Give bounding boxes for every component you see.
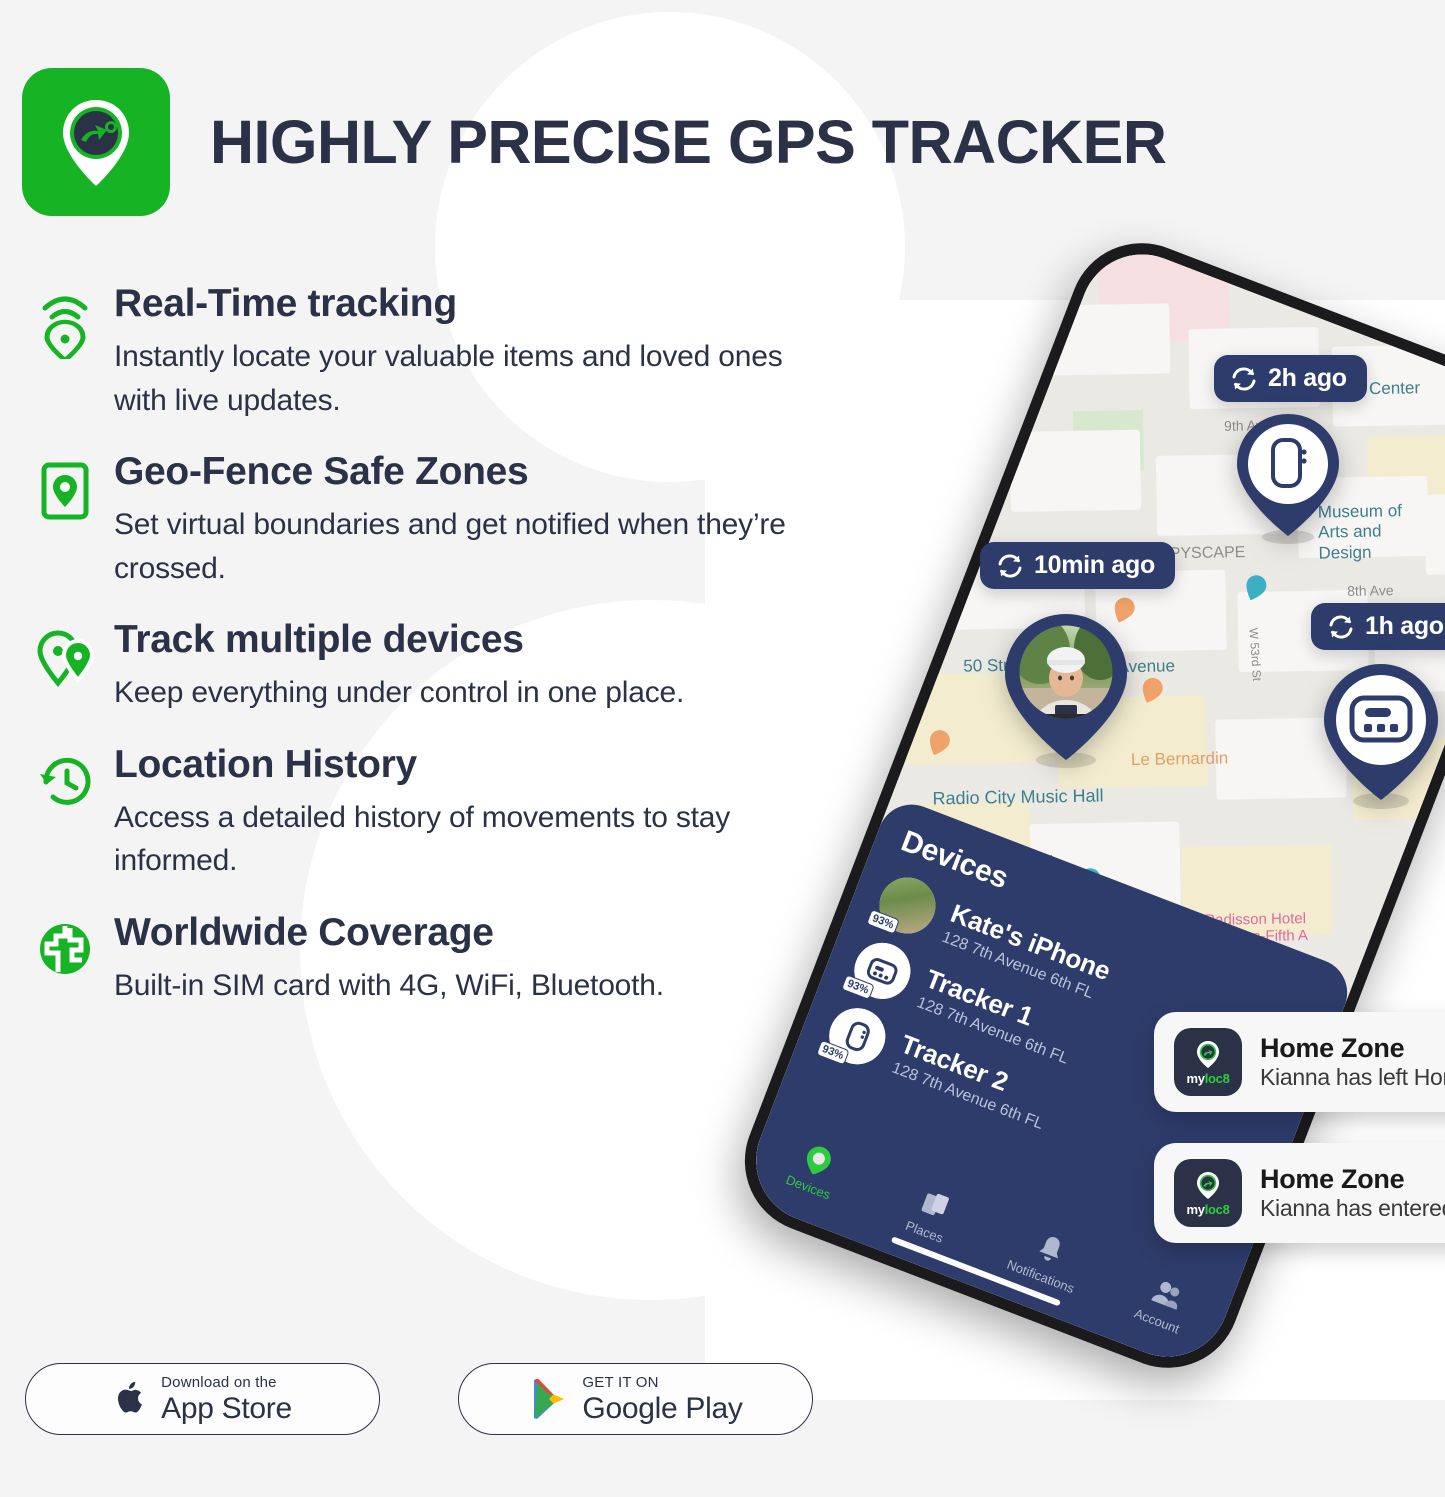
badge-label: 10min ago bbox=[1034, 551, 1155, 580]
notification-card[interactable]: myloc8 Home Zone Kianna has entered H bbox=[1154, 1143, 1445, 1243]
multiple-pins-icon bbox=[36, 619, 114, 715]
notification-title: Home Zone bbox=[1260, 1033, 1445, 1064]
notification-card[interactable]: myloc8 Home Zone Kianna has left Home bbox=[1154, 1012, 1445, 1112]
store-buttons: Download on the App Store GET IT ON Goog… bbox=[25, 1363, 813, 1435]
app-icon: myloc8 bbox=[1174, 1159, 1242, 1227]
google-play-button[interactable]: GET IT ON Google Play bbox=[458, 1363, 813, 1435]
google-play-label: Google Play bbox=[582, 1394, 742, 1424]
google-play-icon bbox=[528, 1377, 568, 1421]
refresh-icon bbox=[1230, 366, 1258, 392]
badge-label: 2h ago bbox=[1268, 364, 1347, 393]
person-avatar-pin[interactable] bbox=[1000, 610, 1132, 773]
notification-title: Home Zone bbox=[1260, 1164, 1445, 1195]
feature-title: Location History bbox=[114, 744, 836, 786]
feature-description: Instantly locate your valuable items and… bbox=[114, 335, 804, 422]
feature-item-worldwide-coverage: Worldwide Coverage Built-in SIM card wit… bbox=[36, 912, 836, 1008]
map-label: Radio City Music Hall bbox=[932, 785, 1103, 809]
feature-title: Track multiple devices bbox=[114, 619, 836, 661]
tab-notifications[interactable]: Notifications bbox=[980, 1212, 1115, 1306]
map-label: 8th Ave bbox=[1347, 582, 1394, 599]
notification-body: Kianna has entered H bbox=[1260, 1195, 1445, 1222]
feature-title: Worldwide Coverage bbox=[114, 912, 836, 954]
avatar: 93% bbox=[871, 869, 943, 941]
refresh-icon bbox=[1327, 614, 1355, 640]
tab-places[interactable]: Places bbox=[864, 1167, 999, 1261]
app-store-label: App Store bbox=[161, 1394, 292, 1424]
timestamp-badge-2h: 2h ago bbox=[1214, 355, 1367, 402]
feature-item-geo-fence: Geo-Fence Safe Zones Set virtual boundar… bbox=[36, 451, 836, 590]
feature-item-real-time-tracking: Real-Time tracking Instantly locate your… bbox=[36, 283, 836, 422]
app-icon: myloc8 bbox=[1174, 1028, 1242, 1096]
feature-title: Real-Time tracking bbox=[114, 283, 836, 325]
timestamp-badge-1h: 1h ago bbox=[1311, 603, 1445, 650]
app-logo bbox=[22, 68, 170, 216]
timestamp-badge-10min: 10min ago bbox=[980, 542, 1175, 589]
tracker-card-pin[interactable] bbox=[1320, 660, 1442, 815]
globe-icon bbox=[36, 912, 114, 1008]
app-name: myloc8 bbox=[1186, 1202, 1229, 1217]
feature-list: Real-Time tracking Instantly locate your… bbox=[36, 283, 836, 1037]
feature-item-track-multiple: Track multiple devices Keep everything u… bbox=[36, 619, 836, 715]
app-name: myloc8 bbox=[1186, 1071, 1229, 1086]
feature-description: Keep everything under control in one pla… bbox=[114, 671, 804, 715]
location-pin-globe-icon bbox=[44, 90, 148, 194]
app-store-button[interactable]: Download on the App Store bbox=[25, 1363, 380, 1435]
tracker-tag-pin[interactable] bbox=[1233, 410, 1343, 550]
geofence-pin-square-icon bbox=[36, 451, 114, 590]
google-play-subtitle: GET IT ON bbox=[582, 1375, 742, 1390]
feature-description: Access a detailed history of movements t… bbox=[114, 796, 804, 883]
page-title: HIGHLY PRECISE GPS TRACKER bbox=[210, 107, 1166, 177]
feature-description: Built-in SIM card with 4G, WiFi, Bluetoo… bbox=[114, 964, 804, 1008]
feature-title: Geo-Fence Safe Zones bbox=[114, 451, 836, 493]
refresh-icon bbox=[996, 553, 1024, 579]
tracker-tag-icon: 93% bbox=[846, 935, 918, 1007]
notification-body: Kianna has left Home bbox=[1260, 1064, 1445, 1091]
app-store-subtitle: Download on the bbox=[161, 1375, 292, 1390]
tracker-card-icon: 93% bbox=[821, 1000, 893, 1072]
tab-account[interactable]: Account bbox=[1096, 1256, 1231, 1350]
promo-banner: HIGHLY PRECISE GPS TRACKER Real-Time tra… bbox=[0, 0, 1445, 1497]
live-signal-pin-icon bbox=[36, 283, 114, 422]
clock-history-icon bbox=[36, 744, 114, 883]
location-pin-globe-icon bbox=[1193, 1170, 1223, 1200]
badge-label: 1h ago bbox=[1365, 612, 1444, 641]
header: HIGHLY PRECISE GPS TRACKER bbox=[22, 68, 1166, 216]
apple-icon bbox=[113, 1378, 147, 1420]
feature-description: Set virtual boundaries and get notified … bbox=[114, 503, 804, 590]
location-pin-globe-icon bbox=[1193, 1039, 1223, 1069]
map-label: Le Bernardin bbox=[1131, 748, 1229, 770]
feature-item-location-history: Location History Access a detailed histo… bbox=[36, 744, 836, 883]
